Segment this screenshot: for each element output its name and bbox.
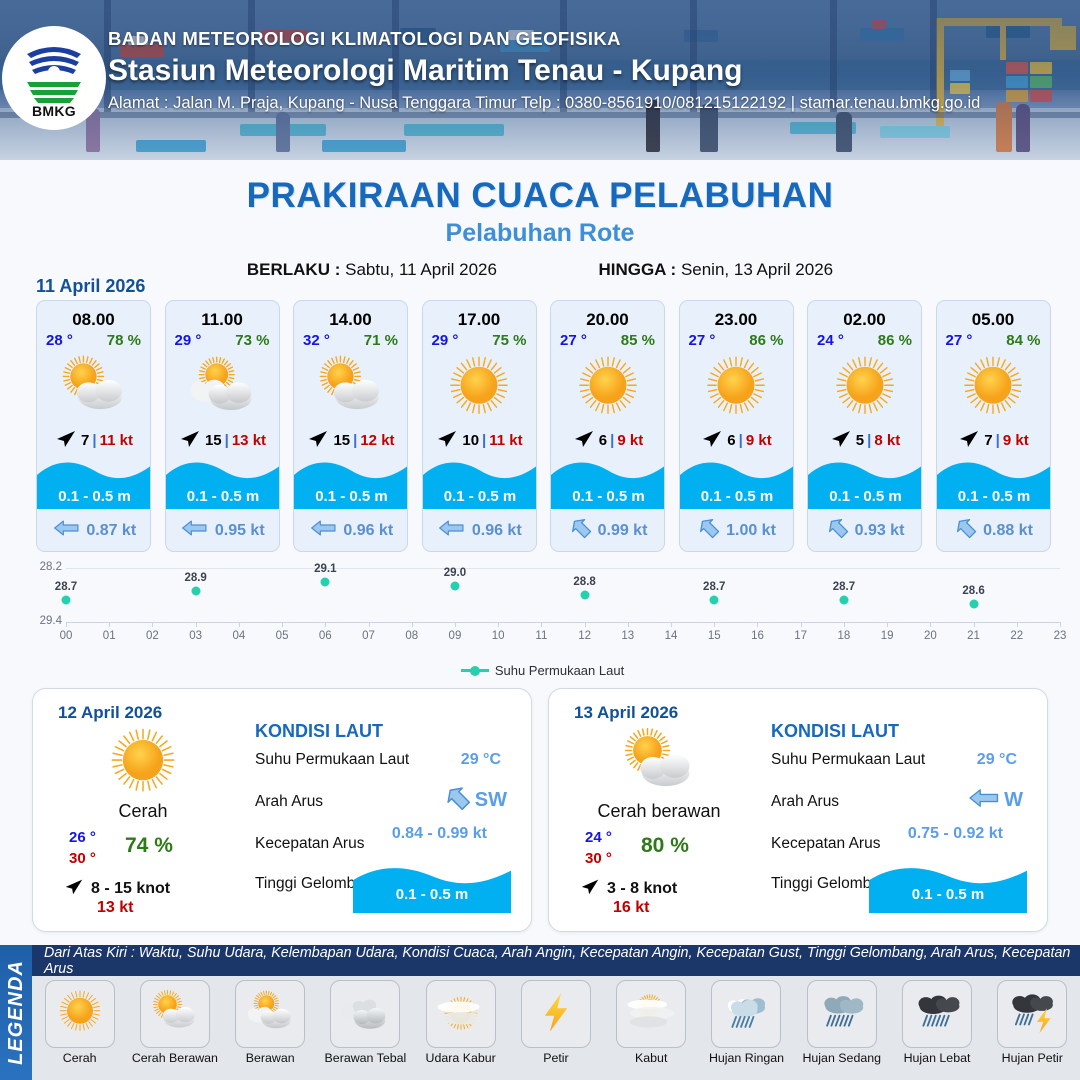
current-direction-arrow-icon bbox=[438, 517, 466, 544]
legend-item-label: Petir bbox=[510, 1051, 602, 1065]
lightning-icon bbox=[525, 983, 587, 1046]
chart-x-tick-label: 23 bbox=[1054, 630, 1067, 642]
card-current-speed: 0.93 kt bbox=[855, 522, 905, 540]
legend-item: Kabut bbox=[605, 980, 697, 1065]
chart-x-tick bbox=[325, 622, 326, 627]
chart-data-point bbox=[580, 591, 589, 600]
card-current: 0.96 kt bbox=[423, 517, 537, 544]
panel-wind-speed: 3 - 8 knot bbox=[607, 880, 677, 898]
daily-forecast-panel: 12 April 2026 Cerah 26 ° 30 ° 74 % 8 - 1… bbox=[32, 688, 532, 932]
chart-data-point bbox=[321, 577, 330, 586]
legend-item-label: Hujan Lebat bbox=[891, 1051, 983, 1065]
station-address: Alamat : Jalan M. Praja, Kupang - Nusa T… bbox=[108, 94, 980, 113]
chart-x-tick bbox=[1017, 622, 1018, 627]
chart-data-point bbox=[710, 595, 719, 604]
card-wave-height: 0.1 - 0.5 m bbox=[294, 488, 408, 505]
card-wind-separator: | bbox=[996, 432, 1000, 449]
panel-gust: 13 kt bbox=[97, 899, 133, 917]
sea-row-label: Arah Arus bbox=[771, 793, 839, 811]
sea-row-value: 0.1 - 0.5 m bbox=[869, 886, 1027, 903]
card-gust: 9 kt bbox=[746, 432, 772, 449]
legend-icon-box bbox=[616, 980, 686, 1048]
page-header: BMKG BADAN METEOROLOGI KLIMATOLOGI DAN G… bbox=[0, 0, 1080, 160]
wind-direction-arrow-icon bbox=[54, 426, 78, 455]
chart-x-tick bbox=[671, 622, 672, 627]
chart-gridline bbox=[66, 568, 1060, 569]
chart-data-label: 28.7 bbox=[833, 581, 855, 593]
chart-legend-label: Suhu Permukaan Laut bbox=[495, 663, 624, 678]
chart-x-tick-label: 15 bbox=[708, 630, 721, 642]
moderate-rain-icon bbox=[811, 983, 873, 1046]
card-current-speed: 0.99 kt bbox=[598, 522, 648, 540]
legend-item: Udara Kabur bbox=[415, 980, 507, 1065]
card-wave-height: 0.1 - 0.5 m bbox=[551, 488, 665, 505]
sea-row-value: W bbox=[1004, 789, 1023, 812]
chart-x-tick bbox=[498, 622, 499, 627]
sea-row-value: 0.75 - 0.92 kt bbox=[908, 825, 1003, 843]
legend-item: Hujan Sedang bbox=[796, 980, 888, 1065]
chart-x-tick-label: 20 bbox=[924, 630, 937, 642]
card-temp-humidity: 29 ° 73 % bbox=[166, 330, 279, 349]
chart-data-label: 29.1 bbox=[314, 563, 336, 575]
chart-legend-marker-icon bbox=[461, 669, 489, 672]
chart-data-label: 29.0 bbox=[444, 567, 466, 579]
forecast-card: 23.00 27 ° 86 % 6 | 9 kt 0.1 - 0.5 m 1.0… bbox=[679, 300, 794, 552]
panel-sea-title: KONDISI LAUT bbox=[255, 721, 383, 742]
legend-item-label: Kabut bbox=[605, 1051, 697, 1065]
legend-item: Berawan bbox=[224, 980, 316, 1065]
chart-x-tick bbox=[282, 622, 283, 627]
legend-icon-box bbox=[45, 980, 115, 1048]
sea-row-label: Suhu Permukaan Laut bbox=[771, 751, 925, 769]
panel-condition: Cerah berawan bbox=[559, 801, 759, 822]
chart-x-tick bbox=[412, 622, 413, 627]
wind-direction-arrow-icon bbox=[63, 875, 85, 902]
card-wave-height: 0.1 - 0.5 m bbox=[166, 488, 280, 505]
current-direction-group: W bbox=[968, 785, 1023, 816]
chart-x-tick-label: 21 bbox=[967, 630, 980, 642]
legend-icon-box bbox=[330, 980, 400, 1048]
chart-x-tick bbox=[974, 622, 975, 627]
panel-condition: Cerah bbox=[43, 801, 243, 822]
card-weather-icon bbox=[423, 351, 536, 423]
card-wave-height: 0.1 - 0.5 m bbox=[37, 488, 151, 505]
title-block: PRAKIRAAN CUACA PELABUHAN Pelabuhan Rote… bbox=[0, 176, 1080, 280]
chart-data-point bbox=[450, 582, 459, 591]
card-temperature: 28 ° bbox=[46, 332, 73, 349]
card-humidity: 84 % bbox=[1006, 332, 1040, 349]
sunny-icon bbox=[49, 983, 111, 1046]
card-time: 23.00 bbox=[680, 310, 793, 330]
chart-x-tick bbox=[585, 622, 586, 627]
chart-x-tick bbox=[239, 622, 240, 627]
legend-item: Petir bbox=[510, 980, 602, 1065]
chart-y-tick-label: 29.4 bbox=[20, 615, 62, 627]
card-current-speed: 1.00 kt bbox=[726, 522, 776, 540]
current-direction-arrow-icon bbox=[698, 517, 720, 544]
chart-data-point bbox=[839, 595, 848, 604]
chart-x-tick-label: 01 bbox=[103, 630, 116, 642]
wind-direction-arrow-icon bbox=[306, 426, 330, 455]
chart-x-tick bbox=[930, 622, 931, 627]
header-text-block: BADAN METEOROLOGI KLIMATOLOGI DAN GEOFIS… bbox=[108, 28, 980, 113]
legend-item-label: Hujan Ringan bbox=[700, 1051, 792, 1065]
panel-humidity: 80 % bbox=[641, 834, 689, 858]
chart-x-tick bbox=[757, 622, 758, 627]
card-current-speed: 0.95 kt bbox=[215, 522, 265, 540]
legend-item-label: Berawan bbox=[224, 1051, 316, 1065]
legend-icon-box bbox=[997, 980, 1067, 1048]
wind-direction-arrow-icon bbox=[572, 426, 596, 455]
forecast-card: 20.00 27 ° 85 % 6 | 9 kt 0.1 - 0.5 m 0.9… bbox=[550, 300, 665, 552]
card-wind: 6 | 9 kt bbox=[680, 427, 793, 453]
bmkg-logo-text: BMKG bbox=[17, 103, 91, 119]
card-gust: 9 kt bbox=[1003, 432, 1029, 449]
card-current-speed: 0.87 kt bbox=[86, 522, 136, 540]
card-weather-icon bbox=[37, 351, 150, 423]
card-current: 0.99 kt bbox=[551, 517, 665, 544]
panel-humidity: 74 % bbox=[125, 834, 173, 858]
sea-row-label: Kecepatan Arus bbox=[255, 835, 364, 853]
legend-icon-box bbox=[711, 980, 781, 1048]
chart-y-tick-label: 28.2 bbox=[20, 561, 62, 573]
card-humidity: 85 % bbox=[621, 332, 655, 349]
agency-name: BADAN METEOROLOGI KLIMATOLOGI DAN GEOFIS… bbox=[108, 28, 980, 50]
card-wind-separator: | bbox=[353, 432, 357, 449]
card-weather-icon bbox=[937, 351, 1050, 423]
card-time: 17.00 bbox=[423, 310, 536, 330]
forecast-card: 05.00 27 ° 84 % 7 | 9 kt 0.1 - 0.5 m 0.8… bbox=[936, 300, 1051, 552]
legend-item: Hujan Petir bbox=[986, 980, 1078, 1065]
card-gust: 9 kt bbox=[617, 432, 643, 449]
sea-row-value: 0.84 - 0.99 kt bbox=[392, 825, 487, 843]
chart-x-axis bbox=[66, 622, 1060, 623]
chart-data-label: 28.7 bbox=[55, 581, 77, 593]
chart-legend: Suhu Permukaan Laut bbox=[20, 663, 1065, 678]
bmkg-logo: BMKG bbox=[2, 26, 106, 130]
chart-x-tick-label: 11 bbox=[535, 630, 547, 642]
legend-item-label: Cerah bbox=[34, 1051, 126, 1065]
sea-row-value: SW bbox=[475, 789, 507, 812]
card-temperature: 24 ° bbox=[817, 332, 844, 349]
card-wind: 7 | 9 kt bbox=[937, 427, 1050, 453]
card-time: 14.00 bbox=[294, 310, 407, 330]
card-wave-height: 0.1 - 0.5 m bbox=[680, 488, 794, 505]
panel-weather-icon bbox=[95, 725, 191, 799]
chart-x-tick-label: 07 bbox=[362, 630, 375, 642]
legend-side-bar: LEGENDA bbox=[0, 945, 32, 1080]
card-wind-speed: 7 bbox=[984, 432, 992, 449]
thunderstorm-icon bbox=[1001, 983, 1063, 1046]
partly-cloudy-icon bbox=[144, 983, 206, 1046]
valid-until-value: Senin, 13 April 2026 bbox=[681, 260, 833, 279]
panel-weather-icon bbox=[611, 725, 707, 799]
card-wind-separator: | bbox=[610, 432, 614, 449]
legend-icon-box bbox=[807, 980, 877, 1048]
card-temperature: 27 ° bbox=[689, 332, 716, 349]
sea-row-label: Arah Arus bbox=[255, 793, 323, 811]
daily-forecast-panels: 12 April 2026 Cerah 26 ° 30 ° 74 % 8 - 1… bbox=[32, 688, 1048, 932]
sst-chart: 28.728.929.129.028.828.728.728.6 0001020… bbox=[20, 560, 1065, 680]
sea-row-value: 29 °C bbox=[977, 751, 1017, 769]
card-wind-speed: 15 bbox=[205, 432, 222, 449]
chart-data-label: 28.6 bbox=[962, 585, 984, 597]
card-temp-humidity: 27 ° 86 % bbox=[680, 330, 793, 349]
card-wind-separator: | bbox=[225, 432, 229, 449]
legend-item: Cerah Berawan bbox=[129, 980, 221, 1065]
forecast-card: 02.00 24 ° 86 % 5 | 8 kt 0.1 - 0.5 m 0.9… bbox=[807, 300, 922, 552]
panel-temp-min: 24 ° bbox=[585, 829, 612, 846]
card-time: 08.00 bbox=[37, 310, 150, 330]
card-wind-speed: 5 bbox=[856, 432, 864, 449]
card-time: 20.00 bbox=[551, 310, 664, 330]
card-temperature: 29 ° bbox=[175, 332, 202, 349]
card-wind-speed: 7 bbox=[81, 432, 89, 449]
card-wind: 5 | 8 kt bbox=[808, 427, 921, 453]
panel-temp-max: 30 ° bbox=[69, 850, 96, 867]
current-direction-arrow-icon bbox=[310, 517, 338, 544]
panel-wind: 3 - 8 knot bbox=[579, 875, 677, 902]
card-temp-humidity: 24 ° 86 % bbox=[808, 330, 921, 349]
card-gust: 11 kt bbox=[100, 432, 133, 449]
wind-direction-arrow-icon bbox=[957, 426, 981, 455]
page-subtitle: Pelabuhan Rote bbox=[0, 219, 1080, 248]
card-humidity: 71 % bbox=[364, 332, 398, 349]
card-wave-height: 0.1 - 0.5 m bbox=[808, 488, 922, 505]
chart-x-tick-label: 22 bbox=[1010, 630, 1023, 642]
chart-data-label: 28.8 bbox=[573, 576, 595, 588]
panel-date: 13 April 2026 bbox=[574, 703, 678, 723]
panel-wind: 8 - 15 knot bbox=[63, 875, 170, 902]
card-humidity: 73 % bbox=[235, 332, 269, 349]
card-temp-humidity: 27 ° 85 % bbox=[551, 330, 664, 349]
legend-item: Cerah bbox=[34, 980, 126, 1065]
card-time: 11.00 bbox=[166, 310, 279, 330]
panel-date: 12 April 2026 bbox=[58, 703, 162, 723]
card-humidity: 75 % bbox=[492, 332, 526, 349]
current-direction-arrow-icon bbox=[827, 517, 849, 544]
valid-from-value: Sabtu, 11 April 2026 bbox=[345, 260, 497, 279]
card-gust: 12 kt bbox=[360, 432, 394, 449]
chart-data-point bbox=[969, 600, 978, 609]
panel-temp-min: 26 ° bbox=[69, 829, 96, 846]
legend-side-label: LEGENDA bbox=[5, 960, 28, 1065]
legend-item-label: Hujan Petir bbox=[986, 1051, 1078, 1065]
card-wind: 15 | 12 kt bbox=[294, 427, 407, 453]
chart-plot-area: 28.728.929.129.028.828.728.728.6 bbox=[66, 568, 1060, 622]
chart-x-tick-label: 13 bbox=[621, 630, 634, 642]
wind-direction-arrow-icon bbox=[579, 875, 601, 902]
card-temperature: 29 ° bbox=[432, 332, 459, 349]
cloudy-icon bbox=[239, 983, 301, 1046]
legend-item: Berawan Tebal bbox=[319, 980, 411, 1065]
forecast-date-label: 11 April 2026 bbox=[36, 276, 145, 297]
chart-data-label: 28.9 bbox=[184, 572, 206, 584]
chart-x-tick bbox=[455, 622, 456, 627]
card-weather-icon bbox=[166, 351, 279, 423]
card-current-speed: 0.88 kt bbox=[983, 522, 1033, 540]
card-wave-height: 0.1 - 0.5 m bbox=[937, 488, 1051, 505]
haze-icon bbox=[430, 983, 492, 1046]
card-wind-separator: | bbox=[482, 432, 486, 449]
legend-item-label: Cerah Berawan bbox=[129, 1051, 221, 1065]
panel-gust: 16 kt bbox=[613, 899, 649, 917]
chart-x-tick bbox=[541, 622, 542, 627]
legend-item-label: Berawan Tebal bbox=[319, 1051, 411, 1065]
chart-x-tick-label: 10 bbox=[492, 630, 505, 642]
card-wind-separator: | bbox=[739, 432, 743, 449]
card-temp-humidity: 27 ° 84 % bbox=[937, 330, 1050, 349]
card-temperature: 32 ° bbox=[303, 332, 330, 349]
wind-direction-arrow-icon bbox=[435, 426, 459, 455]
card-wind: 15 | 13 kt bbox=[166, 427, 279, 453]
sea-row-value: 29 °C bbox=[461, 751, 501, 769]
valid-from-label: BERLAKU : bbox=[247, 260, 341, 279]
chart-x-tick-label: 14 bbox=[665, 630, 678, 642]
chart-x-tick-label: 17 bbox=[794, 630, 807, 642]
card-temperature: 27 ° bbox=[946, 332, 973, 349]
chart-x-tick bbox=[66, 622, 67, 627]
wind-direction-arrow-icon bbox=[700, 426, 724, 455]
current-direction-group: SW bbox=[445, 785, 507, 816]
card-wave-height: 0.1 - 0.5 m bbox=[423, 488, 537, 505]
chart-x-tick bbox=[714, 622, 715, 627]
forecast-card: 11.00 29 ° 73 % 15 | 13 kt 0.1 - 0.5 m bbox=[165, 300, 280, 552]
legend-icon-box bbox=[235, 980, 305, 1048]
chart-data-point bbox=[191, 586, 200, 595]
chart-x-tick-label: 18 bbox=[838, 630, 851, 642]
chart-x-tick-label: 00 bbox=[60, 630, 73, 642]
card-wind-speed: 15 bbox=[333, 432, 350, 449]
validity-line: BERLAKU : Sabtu, 11 April 2026 HINGGA : … bbox=[0, 260, 1080, 280]
card-current: 1.00 kt bbox=[680, 517, 794, 544]
legend-item: Hujan Lebat bbox=[891, 980, 983, 1065]
card-temp-humidity: 32 ° 71 % bbox=[294, 330, 407, 349]
sea-row-label: Suhu Permukaan Laut bbox=[255, 751, 409, 769]
panel-temp-max: 30 ° bbox=[585, 850, 612, 867]
chart-x-tick-label: 02 bbox=[146, 630, 159, 642]
chart-x-tick-label: 16 bbox=[751, 630, 764, 642]
legend-icon-box bbox=[521, 980, 591, 1048]
card-current: 0.95 kt bbox=[166, 517, 280, 544]
chart-x-tick bbox=[844, 622, 845, 627]
chart-x-tick-label: 03 bbox=[189, 630, 202, 642]
current-direction-arrow-icon bbox=[181, 517, 209, 544]
station-name: Stasiun Meteorologi Maritim Tenau - Kupa… bbox=[108, 54, 980, 88]
card-gust: 8 kt bbox=[874, 432, 900, 449]
legend-caption: Dari Atas Kiri : Waktu, Suhu Udara, Kele… bbox=[32, 945, 1080, 976]
card-wind-separator: | bbox=[867, 432, 871, 449]
chart-x-tick-label: 19 bbox=[881, 630, 894, 642]
card-wind-speed: 6 bbox=[599, 432, 607, 449]
panel-sea-title: KONDISI LAUT bbox=[771, 721, 899, 742]
fog-icon bbox=[620, 983, 682, 1046]
card-wind-speed: 10 bbox=[462, 432, 479, 449]
chart-x-tick-label: 05 bbox=[276, 630, 289, 642]
sea-row-label: Kecepatan Arus bbox=[771, 835, 880, 853]
forecast-card: 08.00 28 ° 78 % 7 | 11 kt 0.1 - 0.5 m 0.… bbox=[36, 300, 151, 552]
chart-x-tick-label: 04 bbox=[232, 630, 245, 642]
current-direction-arrow-icon bbox=[570, 517, 592, 544]
card-weather-icon bbox=[294, 351, 407, 423]
wind-direction-arrow-icon bbox=[829, 426, 853, 455]
card-weather-icon bbox=[551, 351, 664, 423]
chart-x-tick-label: 08 bbox=[405, 630, 418, 642]
card-weather-icon bbox=[680, 351, 793, 423]
chart-x-tick bbox=[887, 622, 888, 627]
card-humidity: 86 % bbox=[878, 332, 912, 349]
wind-direction-arrow-icon bbox=[178, 426, 202, 455]
card-humidity: 86 % bbox=[749, 332, 783, 349]
legend-item-label: Udara Kabur bbox=[415, 1051, 507, 1065]
bmkg-logo-mark: BMKG bbox=[17, 38, 91, 118]
heavy-rain-icon bbox=[906, 983, 968, 1046]
forecast-card: 14.00 32 ° 71 % 15 | 12 kt 0.1 - 0.5 m 0… bbox=[293, 300, 408, 552]
card-time: 05.00 bbox=[937, 310, 1050, 330]
hourly-forecast-row: 08.00 28 ° 78 % 7 | 11 kt 0.1 - 0.5 m 0.… bbox=[36, 300, 1046, 552]
chart-x-tick bbox=[152, 622, 153, 627]
current-direction-arrow-icon bbox=[955, 517, 977, 544]
card-wind: 6 | 9 kt bbox=[551, 427, 664, 453]
card-time: 02.00 bbox=[808, 310, 921, 330]
card-temperature: 27 ° bbox=[560, 332, 587, 349]
current-direction-arrow-icon bbox=[53, 517, 81, 544]
valid-until-label: HINGGA : bbox=[598, 260, 676, 279]
legend-icon-box bbox=[426, 980, 496, 1048]
legend-icon-box bbox=[140, 980, 210, 1048]
chart-x-tick bbox=[369, 622, 370, 627]
legend-section: LEGENDA Dari Atas Kiri : Waktu, Suhu Uda… bbox=[0, 945, 1080, 1080]
card-gust: 13 kt bbox=[232, 432, 266, 449]
current-direction-arrow-icon bbox=[968, 785, 1001, 816]
card-humidity: 78 % bbox=[107, 332, 141, 349]
card-wind: 7 | 11 kt bbox=[37, 427, 150, 453]
card-temp-humidity: 28 ° 78 % bbox=[37, 330, 150, 349]
chart-data-point bbox=[62, 595, 71, 604]
chart-x-tick bbox=[628, 622, 629, 627]
chart-x-tick bbox=[1060, 622, 1061, 627]
chart-x-tick bbox=[109, 622, 110, 627]
card-current: 0.96 kt bbox=[294, 517, 408, 544]
legend-icon-box bbox=[902, 980, 972, 1048]
chart-x-tick-label: 09 bbox=[449, 630, 462, 642]
card-temp-humidity: 29 ° 75 % bbox=[423, 330, 536, 349]
card-current: 0.87 kt bbox=[37, 517, 151, 544]
legend-item-label: Hujan Sedang bbox=[796, 1051, 888, 1065]
current-direction-arrow-icon bbox=[445, 785, 471, 816]
forecast-card: 17.00 29 ° 75 % 10 | 11 kt 0.1 - 0.5 m 0… bbox=[422, 300, 537, 552]
overcast-icon bbox=[334, 983, 396, 1046]
card-current-speed: 0.96 kt bbox=[343, 522, 393, 540]
card-wind-speed: 6 bbox=[727, 432, 735, 449]
chart-data-label: 28.7 bbox=[703, 581, 725, 593]
sea-row-value: 0.1 - 0.5 m bbox=[353, 886, 511, 903]
card-wind: 10 | 11 kt bbox=[423, 427, 536, 453]
card-gust: 11 kt bbox=[489, 432, 522, 449]
daily-forecast-panel: 13 April 2026 Cerah berawan 24 ° 30 ° 80… bbox=[548, 688, 1048, 932]
chart-x-tick bbox=[196, 622, 197, 627]
page-title: PRAKIRAAN CUACA PELABUHAN bbox=[0, 176, 1080, 216]
chart-x-tick-label: 12 bbox=[578, 630, 591, 642]
card-current: 0.93 kt bbox=[808, 517, 922, 544]
chart-x-tick bbox=[801, 622, 802, 627]
panel-wind-speed: 8 - 15 knot bbox=[91, 880, 170, 898]
card-current-speed: 0.96 kt bbox=[472, 522, 522, 540]
card-current: 0.88 kt bbox=[937, 517, 1051, 544]
legend-item: Hujan Ringan bbox=[700, 980, 792, 1065]
card-wind-separator: | bbox=[92, 432, 96, 449]
card-weather-icon bbox=[808, 351, 921, 423]
